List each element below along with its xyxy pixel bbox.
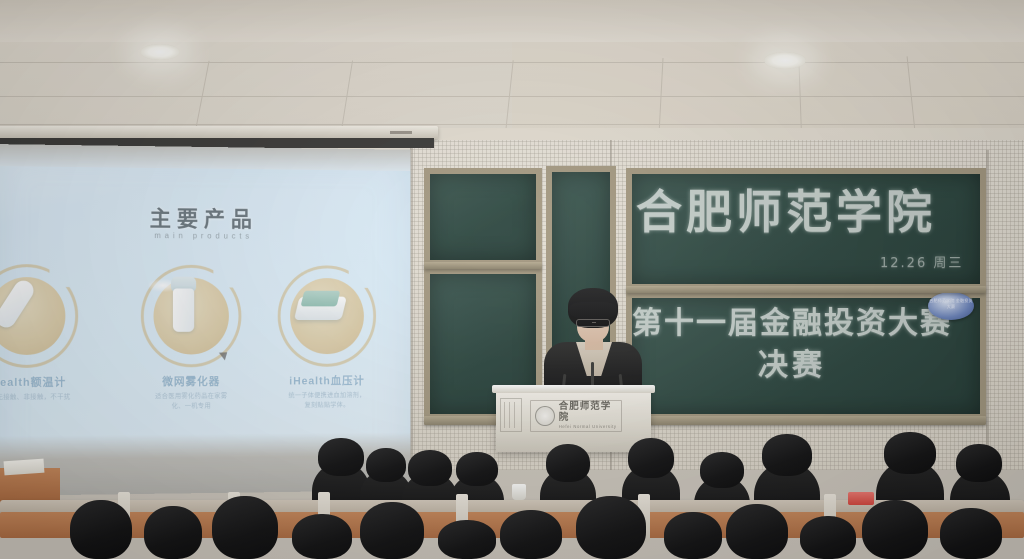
list-item [360,502,424,559]
product-item-blood-pressure: iHealth血压计 统一子体便携进血加溶剂， 复刻贴贴学体。 [256,265,398,410]
bp-display-icon [301,291,341,307]
blackboard-university-text: 合肥师范学院 [636,176,980,242]
blackboard-date-text: 12.26 周三 [880,252,963,271]
list-item [862,500,928,559]
slide-content: 主要产品 main products iHealth额温计 快速无接触、非接触，… [0,164,411,464]
list-item [884,432,936,474]
red-box [848,492,874,505]
university-seal-icon [535,406,555,426]
list-item [456,452,498,486]
blackboard-event-line-2: 决赛 [632,340,952,384]
screen-housing-label [390,131,412,134]
badge-text: 合肥师范学院 金融投资大赛 [928,292,974,310]
list-item [700,452,744,488]
list-item [940,508,1002,559]
list-item [438,520,496,559]
wall-seam [986,150,989,470]
product-item-thermometer: iHealth额温计 快速无接触、非接触，不干扰 [0,264,101,403]
slide-subtitle: main products [0,230,411,242]
blackboard-badge-sticker: 合肥师范学院 金融投资大赛 [928,292,974,320]
list-item [70,500,132,559]
lectern-plaque-en: Hefei Normal University [559,425,621,430]
list-item [144,506,202,559]
lectern-plaque-cn: 合肥师范学院 [559,402,621,424]
lectern-top-surface [492,385,655,393]
papers-on-desk [4,459,45,476]
blackboard-panel-left-upper [424,168,542,266]
list-item [726,504,788,559]
glasses-icon [576,319,610,327]
product-name: iHealth额温计 [0,374,101,391]
product-desc-2: 复刻贴贴学体。 [256,400,398,410]
lectern-plaque: 合肥师范学院 Hefei Normal University [530,400,622,432]
product-desc: 快速无接触、非接触，不干扰 [0,392,101,403]
list-item [546,444,590,482]
nebulizer-icon [173,288,194,331]
list-item [408,450,452,486]
chalk-tray [424,262,542,269]
list-item [500,510,562,559]
list-item [576,496,646,559]
list-item [800,516,856,559]
product-name: iHealth血压计 [256,372,398,388]
product-item-nebulizer: 微网雾化器 适合医用雾化药品在家雾 化、一机专用 [118,265,263,412]
list-item [212,496,278,559]
list-item [366,448,406,482]
presenter-fringe [569,302,617,320]
lectern-side-panel [500,398,522,432]
list-item [664,512,722,559]
lecture-hall-photo: 合肥师范学院 12.26 周三 第十一届金融投资大赛 决赛 合肥师范学院 金融投… [0,0,1024,559]
list-item [628,438,674,478]
product-desc-2: 化、一机专用 [118,401,263,412]
list-item [762,434,812,476]
downlight-icon [140,44,180,60]
list-item [318,438,364,476]
product-name: 微网雾化器 [118,373,263,389]
product-ring [278,265,376,367]
list-item [292,514,352,559]
list-item [956,444,1002,482]
chalk-tray [626,286,986,293]
product-ring [0,264,78,368]
downlight-icon [764,52,806,69]
paper-cup [512,484,526,500]
